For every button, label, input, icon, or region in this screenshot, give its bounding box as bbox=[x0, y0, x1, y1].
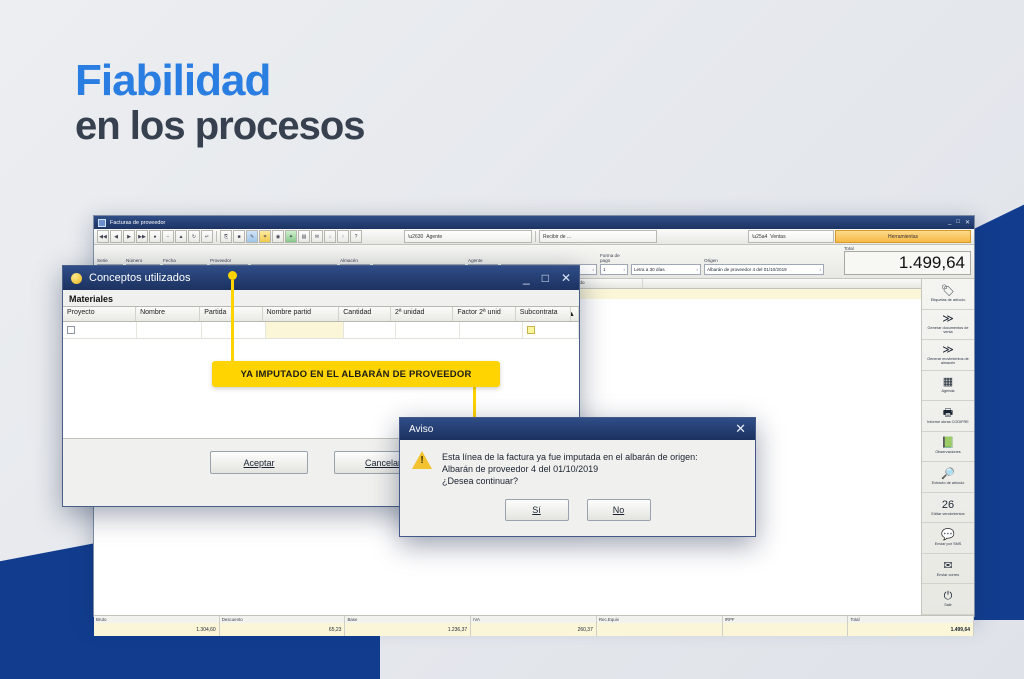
materiales-section-label: Materiales bbox=[63, 290, 579, 306]
footer-value bbox=[597, 623, 722, 636]
right-sidebar: 🏷Etiquetas de artículo≫Generar documento… bbox=[922, 279, 974, 615]
toolbar-nav-button-3[interactable]: ▶▶ bbox=[136, 230, 148, 243]
conceptos-maximize-icon[interactable]: □ bbox=[542, 271, 549, 285]
conceptos-column-nombre-partid[interactable]: Nombre partid bbox=[263, 307, 340, 321]
sidebar-item-label: Editar vencimientos bbox=[931, 512, 964, 516]
maximize-icon[interactable]: □ bbox=[956, 219, 960, 226]
no-button[interactable]: No bbox=[587, 499, 651, 521]
close-icon[interactable]: ✕ bbox=[965, 219, 970, 226]
aviso-title-bar: Aviso ✕ bbox=[400, 418, 755, 440]
aviso-line2: Albarán de proveedor 4 del 01/10/2019 bbox=[442, 463, 698, 475]
toolbar-action-button-9[interactable]: ↑ bbox=[337, 230, 349, 243]
conceptos-minimize-icon[interactable]: _ bbox=[523, 271, 530, 285]
recibir-combo-label: Recibir de ... bbox=[543, 234, 571, 240]
sidebar-item-label: Enviar correo bbox=[937, 573, 960, 577]
footer-irpf: IRPF bbox=[723, 616, 849, 636]
checkbox-icon[interactable] bbox=[67, 326, 75, 334]
toolbar-nav-button-6[interactable]: ▲ bbox=[175, 230, 187, 243]
footer-value: 1.236,37 bbox=[345, 623, 470, 636]
cell-nombre-partida bbox=[266, 322, 344, 338]
sidebar-item-label: Extracto de artículo bbox=[932, 481, 965, 485]
field-label: Fecha bbox=[163, 258, 207, 263]
conceptos-column-factor-2-unid[interactable]: Factor 2ª unid bbox=[453, 307, 515, 321]
cancelar-label: Cancelar bbox=[365, 458, 401, 468]
sidebar-item-label: Observaciones bbox=[935, 450, 960, 454]
app-icon bbox=[98, 219, 106, 227]
toolbar-nav-button-0[interactable]: ◀◀ bbox=[97, 230, 109, 243]
toolbar-action-button-1[interactable]: ■ bbox=[233, 230, 245, 243]
sidebar-icon: 🏷 bbox=[941, 286, 955, 297]
sidebar-icon: ⏻ bbox=[944, 591, 953, 602]
toolbar-action-button-0[interactable]: ⎘ bbox=[220, 230, 232, 243]
field-value: Albarán de proveedor 4 del 01/10/2019 bbox=[707, 267, 787, 272]
toolbar-action-group: ⎘■✎⌗◉✦▤✉↓↑? bbox=[220, 230, 362, 243]
field-input[interactable]: Letra a 30 días↕ bbox=[631, 264, 701, 275]
field-value: 1 bbox=[603, 267, 606, 272]
app-title-bar: Facturas de proveedor _ □ ✕ bbox=[94, 216, 974, 229]
toolbar-separator bbox=[216, 231, 217, 242]
aviso-line1: Esta línea de la factura ya fue imputada… bbox=[442, 451, 698, 463]
footer-label: Base bbox=[345, 616, 470, 623]
sidebar-item-label: Generar movimientos de almacén bbox=[923, 357, 973, 365]
total-value: 1.499,64 bbox=[844, 251, 971, 275]
footer-label: IVA bbox=[471, 616, 596, 623]
sidebar-item-enviar-correo[interactable]: ✉Enviar correo bbox=[922, 554, 974, 585]
aviso-dialog: Aviso ✕ ! Esta línea de la factura ya fu… bbox=[399, 417, 756, 537]
field-label: Origen bbox=[704, 258, 824, 263]
app-title-text: Facturas de proveedor bbox=[110, 220, 165, 226]
conceptos-column-proyecto[interactable]: Proyecto bbox=[63, 307, 136, 321]
footer-label: Bruto bbox=[94, 616, 219, 623]
toolbar-nav-group: ◀◀◀▶▶▶●−▲↻↵ bbox=[97, 230, 213, 243]
agente-combo-icon: \u2630 bbox=[408, 234, 423, 240]
aviso-close-icon[interactable]: ✕ bbox=[735, 421, 746, 437]
spinner-icon[interactable]: ↕ bbox=[819, 267, 821, 272]
field-forma-de-pago: Forma de pago1↕ bbox=[600, 253, 628, 275]
toolbar-nav-button-5[interactable]: − bbox=[162, 230, 174, 243]
sidebar-item-generar-movimientos-de-almac-n[interactable]: ≫Generar movimientos de almacén bbox=[922, 340, 974, 371]
herramientas-label: Herramientas bbox=[888, 234, 918, 240]
headline-line2: en los procesos bbox=[75, 104, 365, 148]
conceptos-column-subcontrata[interactable]: Subcontrata bbox=[516, 307, 571, 321]
aceptar-label: Aceptar bbox=[243, 458, 274, 468]
sidebar-item-salir[interactable]: ⏻Salir bbox=[922, 584, 974, 615]
field-input[interactable]: 1↕ bbox=[600, 264, 628, 275]
sidebar-item-informe-obras-codifre[interactable]: 🖶Informe obras CODIFRE bbox=[922, 401, 974, 432]
total-box: Total1.499,64 bbox=[844, 246, 971, 275]
footer-base: Base1.236,37 bbox=[345, 616, 471, 636]
cell-segunda-unidad bbox=[396, 322, 459, 338]
aviso-message: Esta línea de la factura ya fue imputada… bbox=[442, 451, 698, 487]
aviso-buttons: Sí No bbox=[400, 499, 755, 521]
sidebar-item-label: Informe obras CODIFRE bbox=[927, 420, 969, 424]
sidebar-icon: 🔎 bbox=[941, 469, 955, 480]
field-letra-a-30-d-as: Letra a 30 días↕ bbox=[631, 263, 701, 275]
conceptos-column-nombre[interactable]: Nombre bbox=[136, 307, 200, 321]
yes-button[interactable]: Sí bbox=[505, 499, 569, 521]
footer-label: Total bbox=[848, 616, 973, 623]
totals-footer: Bruto1.304,60Descuento65,23Base1.236,37I… bbox=[94, 615, 974, 636]
headline-line1: Fiabilidad bbox=[75, 58, 365, 104]
no-label: No bbox=[613, 505, 625, 515]
ventas-icon: \u25a4 bbox=[752, 234, 767, 240]
recibir-combo[interactable]: Recibir de ... bbox=[539, 230, 657, 243]
field-label: Proveedor bbox=[210, 258, 248, 263]
warning-icon: ! bbox=[412, 451, 432, 469]
headline: Fiabilidad en los procesos bbox=[75, 58, 365, 148]
sidebar-icon: ▦ bbox=[943, 377, 953, 388]
field-origen: OrigenAlbarán de proveedor 4 del 01/10/2… bbox=[704, 258, 824, 275]
footer-label: IRPF bbox=[723, 616, 848, 623]
field-label: Agente bbox=[468, 258, 498, 263]
conceptos-title-text: Conceptos utilizados bbox=[89, 272, 191, 284]
sidebar-item-label: Enviar por SMS bbox=[935, 542, 962, 546]
minimize-icon[interactable]: _ bbox=[948, 219, 951, 226]
toolbar-action-button-2[interactable]: ✎ bbox=[246, 230, 258, 243]
toolbar-separator-2 bbox=[535, 231, 536, 242]
subcontrata-checkbox-icon[interactable] bbox=[527, 326, 535, 334]
footer-iva: IVA260,37 bbox=[471, 616, 597, 636]
aviso-title-text: Aviso bbox=[409, 424, 433, 435]
toolbar-nav-button-2[interactable]: ▶ bbox=[123, 230, 135, 243]
conceptos-title-bar: Conceptos utilizados _ □ ✕ bbox=[63, 266, 579, 290]
agente-combo-label: Agente bbox=[426, 234, 442, 240]
toolbar-action-button-3[interactable]: ⌗ bbox=[259, 230, 271, 243]
sidebar-item-etiquetas-de-art-culo[interactable]: 🏷Etiquetas de artículo bbox=[922, 279, 974, 310]
sidebar-icon: ≫ bbox=[942, 314, 954, 325]
table-row[interactable] bbox=[63, 322, 579, 339]
field-input[interactable]: Albarán de proveedor 4 del 01/10/2019↕ bbox=[704, 264, 824, 275]
footer-value: 65,23 bbox=[220, 623, 345, 636]
yes-label: Sí bbox=[532, 505, 541, 515]
cell-factor bbox=[460, 322, 523, 338]
sidebar-icon: 📗 bbox=[941, 438, 955, 449]
sidebar-item-extracto-de-art-culo[interactable]: 🔎Extracto de artículo bbox=[922, 462, 974, 493]
footer-value: 1.499,64 bbox=[848, 623, 973, 636]
footer-rec-equiv: Rec.Equiv bbox=[597, 616, 723, 636]
callout-banner: YA IMPUTADO EN EL ALBARÁN DE PROVEEDOR bbox=[212, 361, 500, 387]
toolbar-nav-button-4[interactable]: ● bbox=[149, 230, 161, 243]
field-label: Serie bbox=[97, 258, 123, 263]
spinner-icon[interactable]: ↕ bbox=[623, 267, 625, 272]
agente-combo[interactable]: \u2630 Agente bbox=[404, 230, 532, 243]
app-toolbar: ◀◀◀▶▶▶●−▲↻↵ ⎘■✎⌗◉✦▤✉↓↑? \u2630 Agente Re… bbox=[94, 229, 974, 245]
toolbar-action-button-7[interactable]: ✉ bbox=[311, 230, 323, 243]
sidebar-item-label: Generar documentos de venta bbox=[923, 326, 973, 334]
sidebar-icon: 26 bbox=[942, 500, 954, 511]
cell-proyecto bbox=[63, 322, 137, 338]
sidebar-item-agenda[interactable]: ▦Agenda bbox=[922, 371, 974, 402]
conceptos-column-cantidad[interactable]: Cantidad bbox=[339, 307, 391, 321]
field-value: Letra a 30 días bbox=[634, 267, 665, 272]
sidebar-item-generar-documentos-de-venta[interactable]: ≫Generar documentos de venta bbox=[922, 310, 974, 341]
field-label: Almacén bbox=[340, 258, 370, 263]
lightbulb-icon bbox=[71, 273, 82, 284]
callout-text: YA IMPUTADO EN EL ALBARÁN DE PROVEEDOR bbox=[240, 369, 471, 380]
callout-pin-top bbox=[228, 271, 237, 372]
toolbar-nav-button-8[interactable]: ↵ bbox=[201, 230, 213, 243]
pin-stem-top bbox=[231, 280, 234, 372]
toolbar-action-button-8[interactable]: ↓ bbox=[324, 230, 336, 243]
sidebar-item-label: Agenda bbox=[941, 389, 954, 393]
footer-value: 1.304,60 bbox=[94, 623, 219, 636]
sidebar-icon: ✉ bbox=[943, 561, 952, 572]
sidebar-icon: ≫ bbox=[942, 345, 954, 356]
toolbar-action-button-10[interactable]: ? bbox=[350, 230, 362, 243]
conceptos-grid-header: ProyectoNombrePartidaNombre partidCantid… bbox=[63, 306, 579, 322]
conceptos-close-icon[interactable]: ✕ bbox=[561, 271, 571, 285]
footer-descuento: Descuento65,23 bbox=[220, 616, 346, 636]
toolbar-nav-button-7[interactable]: ↻ bbox=[188, 230, 200, 243]
herramientas-button[interactable]: Herramientas bbox=[835, 230, 971, 243]
field-label: Forma de pago bbox=[600, 253, 628, 263]
scroll-up-icon[interactable]: ▲ bbox=[571, 307, 579, 321]
field-label: Número bbox=[126, 258, 160, 263]
toolbar-action-button-6[interactable]: ▤ bbox=[298, 230, 310, 243]
pin-head-top bbox=[228, 271, 237, 280]
conceptos-column-2-unidad[interactable]: 2ª unidad bbox=[391, 307, 453, 321]
sidebar-icon: 🖶 bbox=[943, 408, 953, 419]
sidebar-icon: 💬 bbox=[941, 530, 955, 541]
footer-label: Descuento bbox=[220, 616, 345, 623]
footer-label: Rec.Equiv bbox=[597, 616, 722, 623]
footer-total: Total1.499,64 bbox=[848, 616, 974, 636]
cell-cantidad bbox=[344, 322, 397, 338]
ventas-button[interactable]: \u25a4 Ventas bbox=[748, 230, 834, 243]
aviso-body: ! Esta línea de la factura ya fue imputa… bbox=[400, 440, 755, 487]
sidebar-item-label: Etiquetas de artículo bbox=[931, 298, 966, 302]
cell-subcontrata bbox=[523, 322, 579, 338]
toolbar-action-button-5[interactable]: ✦ bbox=[285, 230, 297, 243]
footer-value: 260,37 bbox=[471, 623, 596, 636]
toolbar-action-button-4[interactable]: ◉ bbox=[272, 230, 284, 243]
spinner-icon[interactable]: ↕ bbox=[696, 267, 698, 272]
cell-nombre bbox=[137, 322, 202, 338]
spinner-icon[interactable]: ↕ bbox=[592, 267, 594, 272]
aceptar-button[interactable]: Aceptar bbox=[210, 451, 308, 474]
sidebar-item-enviar-por-sms[interactable]: 💬Enviar por SMS bbox=[922, 523, 974, 554]
footer-bruto: Bruto1.304,60 bbox=[94, 616, 220, 636]
footer-value bbox=[723, 623, 848, 636]
ventas-label: Ventas bbox=[770, 234, 785, 240]
sidebar-item-label: Salir bbox=[944, 603, 952, 607]
sidebar-item-observaciones[interactable]: 📗Observaciones bbox=[922, 432, 974, 463]
toolbar-nav-button-1[interactable]: ◀ bbox=[110, 230, 122, 243]
sidebar-item-editar-vencimientos[interactable]: 26Editar vencimientos bbox=[922, 493, 974, 524]
aviso-line3: ¿Desea continuar? bbox=[442, 475, 698, 487]
